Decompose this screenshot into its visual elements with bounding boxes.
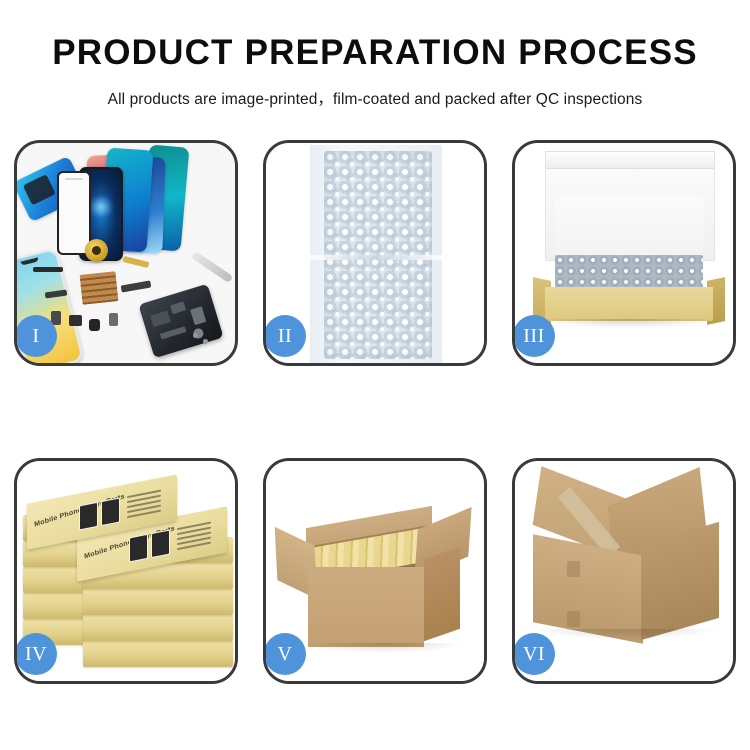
screw-icon	[193, 333, 198, 338]
speaker-coil-icon	[85, 239, 108, 262]
process-step-panel-1[interactable]: I	[14, 140, 238, 366]
page-header: PRODUCT PREPARATION PROCESS All products…	[0, 0, 750, 109]
retail-box	[83, 641, 233, 667]
foam-insert	[555, 197, 703, 263]
box-art-screen	[101, 498, 120, 527]
box-art-screen	[129, 534, 148, 563]
box-art-screen	[79, 502, 98, 531]
copper-mesh-icon	[80, 271, 119, 305]
carton-side-panel	[424, 547, 460, 641]
step-badge: I	[15, 315, 57, 357]
bubble-wrapped-item	[555, 255, 703, 291]
screen-protector-icon	[57, 171, 91, 255]
drop-shadow	[533, 629, 719, 639]
step-badge: IV	[15, 633, 57, 675]
component-icon	[89, 319, 100, 331]
carton-hand-hole	[567, 561, 580, 577]
process-step-panel-6[interactable]: VI	[512, 458, 736, 684]
component-icon	[109, 313, 118, 326]
page-title: PRODUCT PREPARATION PROCESS	[0, 34, 750, 73]
step-badge: II	[264, 315, 306, 357]
wrap-seam	[310, 255, 442, 260]
box-lid-edge	[545, 151, 715, 169]
step-badge: V	[264, 633, 306, 675]
carton-front-panel	[308, 567, 424, 647]
flex-cable-icon	[33, 267, 63, 272]
carton-hand-hole	[567, 611, 580, 627]
box-art-screen	[151, 530, 170, 559]
process-step-panel-4[interactable]: Mobile Phone Spare Parts Mobile Phone Sp…	[14, 458, 238, 684]
component-icon	[69, 315, 82, 326]
process-step-grid: I II III	[14, 140, 736, 684]
retail-box	[83, 589, 233, 615]
step-badge: III	[513, 315, 555, 357]
process-step-panel-3[interactable]: III	[512, 140, 736, 366]
screw-icon	[203, 339, 208, 344]
page-subtitle: All products are image-printed，film-coat…	[0, 87, 750, 109]
process-step-panel-5[interactable]: V	[263, 458, 487, 684]
process-step-panel-2[interactable]: II	[263, 140, 487, 366]
box-front-panel	[545, 287, 713, 321]
drop-shadow	[541, 319, 717, 328]
drop-shadow	[304, 643, 464, 653]
step-badge: VI	[513, 633, 555, 675]
retail-box	[83, 615, 233, 641]
